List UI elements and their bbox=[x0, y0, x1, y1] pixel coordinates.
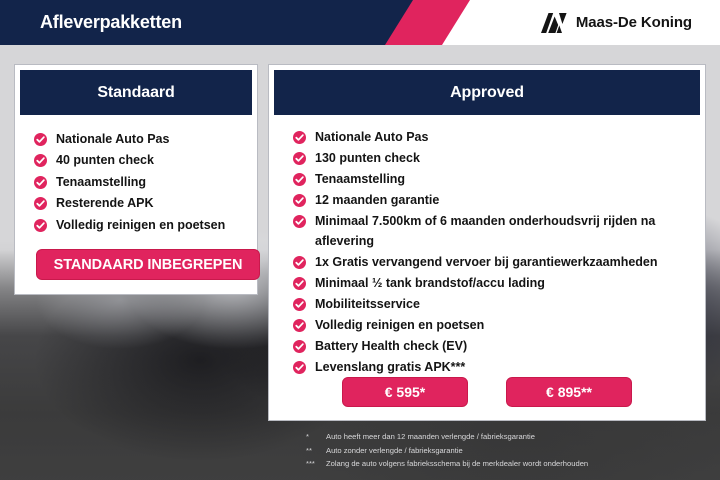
check-circle-icon bbox=[34, 176, 47, 189]
feature-label: Battery Health check (EV) bbox=[315, 336, 467, 357]
feature-label: Tenaamstelling bbox=[315, 169, 405, 190]
check-circle-icon bbox=[293, 298, 306, 311]
footnote-row: * Auto heeft meer dan 12 maanden verleng… bbox=[306, 430, 706, 444]
feature-label: Tenaamstelling bbox=[56, 172, 146, 193]
list-item: Minimaal ½ tank brandstof/accu lading bbox=[293, 273, 691, 294]
page-header: Afleverpakketten Maas-De Koning bbox=[0, 0, 720, 45]
check-circle-icon bbox=[293, 173, 306, 186]
list-item: Resterende APK bbox=[34, 193, 257, 214]
price-button-895[interactable]: € 895** bbox=[506, 377, 632, 407]
card-title: Standaard bbox=[97, 84, 174, 102]
brand-logo: Maas-De Koning bbox=[541, 0, 692, 45]
feature-label: 12 maanden garantie bbox=[315, 190, 439, 211]
brand-name: Maas-De Koning bbox=[576, 14, 692, 31]
footnotes: * Auto heeft meer dan 12 maanden verleng… bbox=[306, 430, 706, 471]
list-item: Tenaamstelling bbox=[34, 172, 257, 193]
list-item: Battery Health check (EV) bbox=[293, 336, 691, 357]
list-item: Mobiliteitsservice bbox=[293, 294, 691, 315]
list-item: 40 punten check bbox=[34, 150, 257, 171]
list-item: Volledig reinigen en poetsen bbox=[293, 315, 691, 336]
feature-label: Mobiliteitsservice bbox=[315, 294, 420, 315]
footnote-row: ** Auto zonder verlengde / fabrieksgaran… bbox=[306, 444, 706, 458]
check-circle-icon bbox=[293, 319, 306, 332]
card-title: Approved bbox=[450, 84, 524, 102]
package-card-approved: Approved Nationale Auto Pas 130 punten c… bbox=[268, 64, 706, 421]
list-item: Nationale Auto Pas bbox=[293, 127, 691, 148]
list-item: 12 maanden garantie bbox=[293, 190, 691, 211]
list-item: Nationale Auto Pas bbox=[34, 129, 257, 150]
card-header-approved: Approved bbox=[274, 70, 700, 115]
footnote-marker: ** bbox=[306, 444, 326, 458]
page-title: Afleverpakketten bbox=[40, 0, 182, 45]
feature-label: Levenslang gratis APK*** bbox=[315, 357, 465, 378]
feature-label: 130 punten check bbox=[315, 148, 420, 169]
check-circle-icon bbox=[34, 154, 47, 167]
footnote-text: Zolang de auto volgens fabrieksschema bi… bbox=[326, 457, 588, 471]
feature-label: Minimaal ½ tank brandstof/accu lading bbox=[315, 273, 545, 294]
feature-label: 1x Gratis vervangend vervoer bij garanti… bbox=[315, 252, 658, 273]
price-button-row: € 595* € 895** bbox=[269, 377, 705, 407]
feature-label: Minimaal 7.500km of 6 maanden onderhouds… bbox=[315, 211, 691, 253]
check-circle-icon bbox=[293, 194, 306, 207]
feature-label: Nationale Auto Pas bbox=[315, 127, 428, 148]
check-circle-icon bbox=[293, 215, 306, 228]
maas-de-koning-m-mark bbox=[541, 13, 567, 33]
price-button-595[interactable]: € 595* bbox=[342, 377, 468, 407]
check-circle-icon bbox=[293, 256, 306, 269]
list-item: Minimaal 7.500km of 6 maanden onderhouds… bbox=[293, 211, 691, 253]
list-item: Tenaamstelling bbox=[293, 169, 691, 190]
footnote-marker: * bbox=[306, 430, 326, 444]
feature-label: Volledig reinigen en poetsen bbox=[56, 215, 225, 236]
feature-label: 40 punten check bbox=[56, 150, 154, 171]
standaard-included-button[interactable]: STANDAARD INBEGREPEN bbox=[36, 249, 260, 280]
feature-label: Volledig reinigen en poetsen bbox=[315, 315, 484, 336]
feature-list-standaard: Nationale Auto Pas 40 punten check Tenaa… bbox=[15, 115, 257, 236]
feature-label: Resterende APK bbox=[56, 193, 154, 214]
footnote-text: Auto heeft meer dan 12 maanden verlengde… bbox=[326, 430, 535, 444]
check-circle-icon bbox=[293, 340, 306, 353]
feature-label: Nationale Auto Pas bbox=[56, 129, 169, 150]
footnote-text: Auto zonder verlengde / fabrieksgarantie bbox=[326, 444, 463, 458]
list-item: Levenslang gratis APK*** bbox=[293, 357, 691, 378]
check-circle-icon bbox=[293, 152, 306, 165]
package-card-standaard: Standaard Nationale Auto Pas 40 punten c… bbox=[14, 64, 258, 295]
check-circle-icon bbox=[34, 133, 47, 146]
card-header-standaard: Standaard bbox=[20, 70, 252, 115]
feature-list-approved: Nationale Auto Pas 130 punten check Tena… bbox=[269, 115, 705, 378]
check-circle-icon bbox=[34, 219, 47, 232]
footnote-row: *** Zolang de auto volgens fabrieksschem… bbox=[306, 457, 706, 471]
check-circle-icon bbox=[293, 277, 306, 290]
list-item: Volledig reinigen en poetsen bbox=[34, 215, 257, 236]
list-item: 130 punten check bbox=[293, 148, 691, 169]
check-circle-icon bbox=[293, 361, 306, 374]
check-circle-icon bbox=[293, 131, 306, 144]
footnote-marker: *** bbox=[306, 457, 326, 471]
check-circle-icon bbox=[34, 197, 47, 210]
list-item: 1x Gratis vervangend vervoer bij garanti… bbox=[293, 252, 691, 273]
